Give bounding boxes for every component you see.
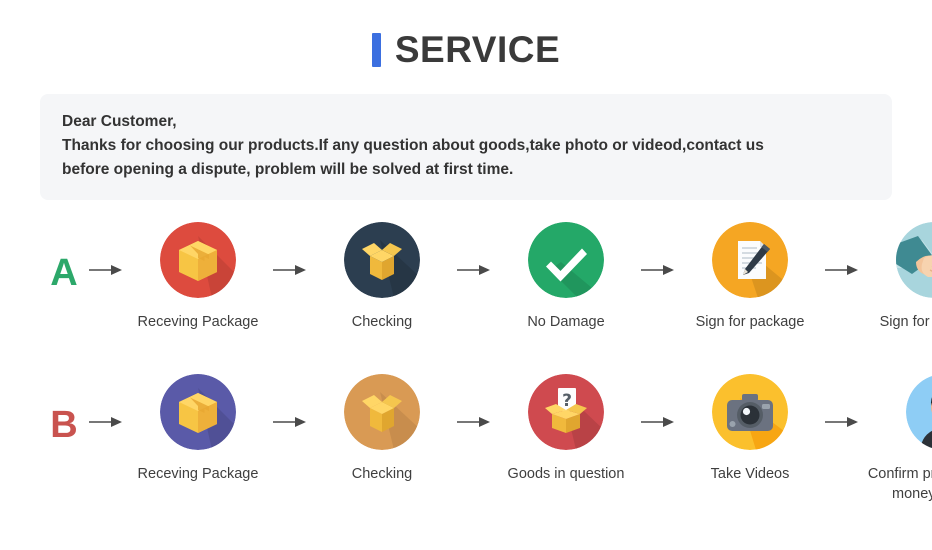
document-pen-icon: [712, 222, 788, 298]
title-accent-bar: [372, 33, 381, 67]
open-box-icon: [344, 222, 420, 298]
arrow-right-icon: [820, 374, 864, 430]
handshake-icon: [896, 222, 932, 298]
step-a-4[interactable]: Sign for package: [680, 222, 820, 332]
notice-line-2: Thanks for choosing our products.If any …: [62, 134, 870, 158]
step-label: Receving Package: [138, 312, 259, 332]
step-b-1[interactable]: Receving Package: [128, 374, 268, 484]
step-label: Checking: [352, 464, 412, 484]
step-b-2[interactable]: Checking: [312, 374, 452, 484]
step-a-3[interactable]: No Damage: [496, 222, 636, 332]
package-box-icon: [160, 222, 236, 298]
person-avatar-icon: [906, 374, 932, 450]
step-a-1[interactable]: Receving Package: [128, 222, 268, 332]
question-box-icon: ?: [528, 374, 604, 450]
package-box-icon: [160, 374, 236, 450]
notice-line-1: Dear Customer,: [62, 110, 870, 134]
step-label: Take Videos: [711, 464, 790, 484]
check-mark-icon: [528, 222, 604, 298]
step-label: Checking: [352, 312, 412, 332]
flow-label-b: B: [44, 374, 84, 444]
camera-icon: [712, 374, 788, 450]
arrow-right-icon: [636, 222, 680, 278]
flow-row-a: A Receving Package: [0, 222, 932, 332]
open-box-icon: [344, 374, 420, 450]
flow-label-a: A: [44, 222, 84, 292]
notice-line-3: before opening a dispute, problem will b…: [62, 158, 870, 182]
step-label: Receving Package: [138, 464, 259, 484]
step-label: No Damage: [527, 312, 604, 332]
step-label: Sign for package: [880, 312, 932, 332]
step-b-5[interactable]: Confirm problem,refund money or reship: [864, 374, 932, 504]
arrow-right-icon: [268, 374, 312, 430]
step-label: Sign for package: [696, 312, 805, 332]
page-title: SERVICE: [395, 29, 560, 71]
step-a-2[interactable]: Checking: [312, 222, 452, 332]
arrow-right-icon: [84, 222, 128, 278]
step-b-3[interactable]: ? Goods in question: [496, 374, 636, 484]
step-label: Goods in question: [508, 464, 625, 484]
arrow-right-icon: [636, 374, 680, 430]
arrow-right-icon: [452, 222, 496, 278]
arrow-right-icon: [820, 222, 864, 278]
arrow-right-icon: [452, 374, 496, 430]
step-a-5[interactable]: Sign for package: [864, 222, 932, 332]
page-header: SERVICE: [0, 0, 932, 86]
customer-notice-box: Dear Customer, Thanks for choosing our p…: [40, 94, 892, 200]
arrow-right-icon: [84, 374, 128, 430]
step-label: Confirm problem,refund money or reship: [864, 464, 932, 504]
step-b-4[interactable]: Take Videos: [680, 374, 820, 484]
flow-row-b: B Receving Package: [0, 374, 932, 504]
arrow-right-icon: [268, 222, 312, 278]
